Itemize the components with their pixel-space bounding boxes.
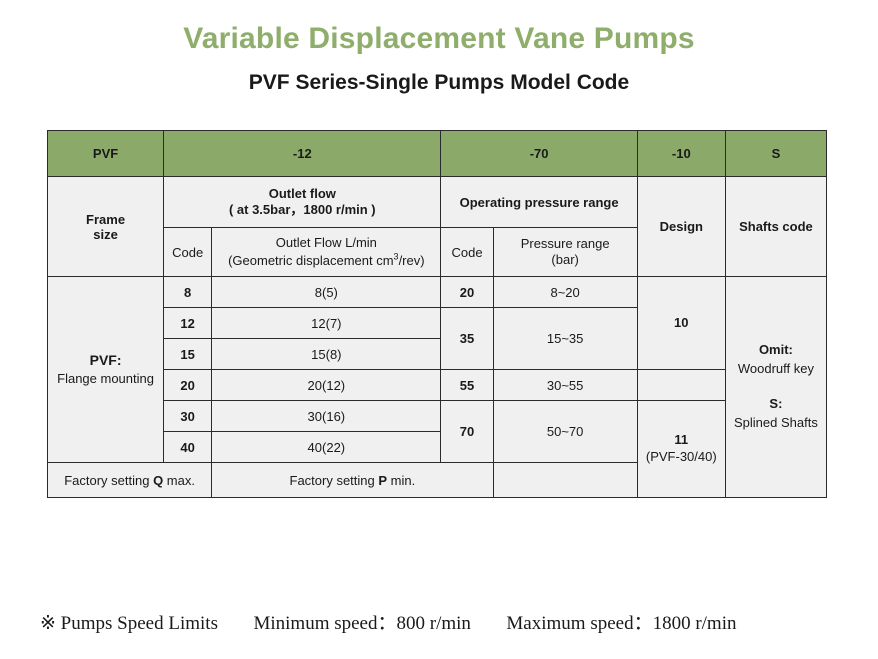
pressure-code-cell: 70 [441,401,493,463]
design-cell: 10 [637,277,725,370]
pressure-range-cell: 15~35 [493,308,637,370]
header-cell-frame: PVF [48,131,164,177]
flow-value-cell: 40(22) [212,432,441,463]
shafts-spacer [730,379,822,395]
group-header-shafts-code: Shafts code [725,177,826,277]
factory-pressure-pre: Factory setting [290,473,379,488]
flow-code-cell: 30 [164,401,212,432]
pressure-range-line2: (bar) [551,252,578,267]
shafts-omit-label: Omit: [730,341,822,360]
outlet-flow-title: Outlet flow [269,186,336,201]
shafts-code-cell: Omit: Woodruff key S: Splined Shafts [725,277,826,498]
pressure-range-line1: Pressure range [521,236,610,251]
header-cell-shafts: S [725,131,826,177]
sub-header-flow-code: Code [164,228,212,277]
model-code-table: PVF -12 -70 -10 S Frame size Outlet flow… [47,130,827,498]
factory-setting-flow: Factory setting Q max. [48,463,212,498]
factory-pressure-symbol: P [378,473,387,488]
shafts-s-label: S: [730,395,822,414]
flow-value-line2: (Geometric displacement cm3/rev) [228,253,424,268]
flow-code-cell: 20 [164,370,212,401]
group-header-outlet-flow: Outlet flow ( at 3.5bar，1800 r/min ) [164,177,441,228]
design-cell: 11 (PVF-30/40) [637,401,725,498]
group-header-operating-pressure: Operating pressure range [441,177,637,228]
flow-value-line1: Outlet Flow L/min [276,235,377,250]
header-cell-flow: -12 [164,131,441,177]
pressure-range-cell: 50~70 [493,401,637,463]
frame-size-label: PVF: [52,351,159,370]
note-label: Pumps Speed Limits [61,613,218,635]
page-title: Variable Displacement Vane Pumps [0,22,878,56]
factory-setting-pressure: Factory setting P min. [212,463,493,498]
sub-header-pressure-code: Code [441,228,493,277]
note-maximum-speed: Maximum speed：1800 r/min [506,608,736,635]
flow-value-cell: 20(12) [212,370,441,401]
header-cell-pressure: -70 [441,131,637,177]
speed-limits-note: ※ Pumps Speed Limits Minimum speed：800 r… [40,608,860,635]
factory-flow-pre: Factory setting [64,473,153,488]
flow-value-cell: 15(8) [212,339,441,370]
pressure-range-cell: 30~55 [493,370,637,401]
flow-value-cell: 30(16) [212,401,441,432]
model-code-table-wrapper: PVF -12 -70 -10 S Frame size Outlet flow… [47,130,827,498]
header-cell-design: -10 [637,131,725,177]
pressure-range-cell: 8~20 [493,277,637,308]
group-header-frame-size: Frame size [48,177,164,277]
frame-size-line2: size [93,227,118,242]
note-mark: ※ [40,612,56,635]
group-header-design: Design [637,177,725,277]
flow-value-cell: 12(7) [212,308,441,339]
design-code: 11 [674,432,688,447]
model-code-page: Variable Displacement Vane Pumps PVF Ser… [0,0,878,659]
factory-setting-design-blank [493,463,637,498]
flow-value-line2-post: /rev) [399,253,425,268]
table-row-group-header: Frame size Outlet flow ( at 3.5bar，1800 … [48,177,827,228]
outlet-flow-condition: ( at 3.5bar，1800 r/min ) [229,202,376,217]
note-minimum-speed: Minimum speed：800 r/min [253,608,470,635]
flow-code-cell: 40 [164,432,212,463]
factory-flow-symbol: Q [153,473,163,488]
flow-code-cell: 8 [164,277,212,308]
sub-header-flow-value: Outlet Flow L/min (Geometric displacemen… [212,228,441,277]
design-note: (PVF-30/40) [642,449,721,466]
frame-size-line1: Frame [86,212,125,227]
frame-size-cell: PVF: Flange mounting [48,277,164,463]
frame-size-description: Flange mounting [57,371,154,386]
shafts-omit-description: Woodruff key [738,361,814,376]
pressure-code-cell: 35 [441,308,493,370]
factory-pressure-post: min. [387,473,415,488]
design-code: 10 [674,315,688,330]
page-subtitle: PVF Series-Single Pumps Model Code [0,71,878,95]
flow-value-cell: 8(5) [212,277,441,308]
shafts-s-description: Splined Shafts [734,415,818,430]
pressure-code-cell: 55 [441,370,493,401]
flow-code-cell: 12 [164,308,212,339]
flow-value-line2-pre: (Geometric displacement cm [228,253,393,268]
sub-header-pressure-range: Pressure range (bar) [493,228,637,277]
pressure-code-cell: 20 [441,277,493,308]
factory-flow-post: max. [163,473,195,488]
table-row-code-header: PVF -12 -70 -10 S [48,131,827,177]
flow-code-cell: 15 [164,339,212,370]
